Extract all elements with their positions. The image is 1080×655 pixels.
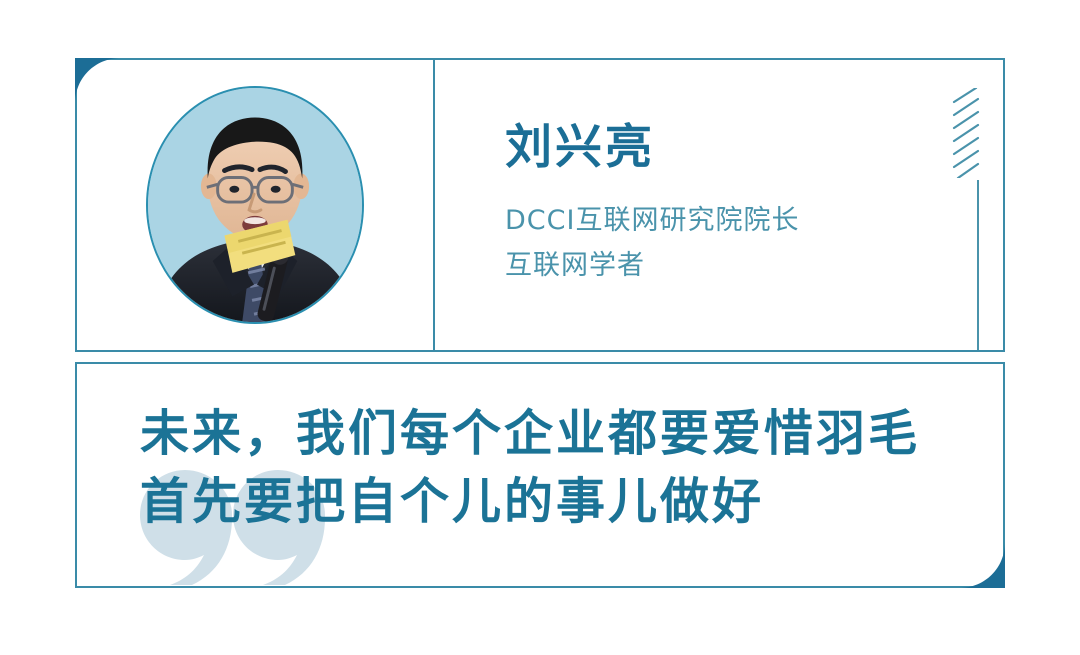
profile-divider [433,60,435,350]
decoration-vertical-rule [977,180,979,350]
quote-line-1: 未来，我们每个企业都要爱惜羽毛 [140,400,1000,468]
quote-text: 未来，我们每个企业都要爱惜羽毛 首先要把自个儿的事儿做好 [140,400,1000,535]
quote-line-2: 首先要把自个儿的事儿做好 [140,468,1000,536]
avatar-cell [77,60,433,350]
avatar-portrait-icon [148,88,362,322]
speaker-quote-card: 刘兴亮 DCCI互联网研究院院长 互联网学者 [0,0,1080,655]
speaker-title-line-1: DCCI互联网研究院院长 [505,199,945,244]
diagonal-hatch-decoration [952,88,992,178]
speaker-name: 刘兴亮 [505,122,945,174]
corner-accent-bottom-right [959,542,1005,588]
speaker-identity: 刘兴亮 DCCI互联网研究院院长 互联网学者 [505,60,945,350]
corner-accent-top-left [75,58,121,104]
avatar [146,86,364,324]
speaker-title-line-2: 互联网学者 [505,244,945,289]
